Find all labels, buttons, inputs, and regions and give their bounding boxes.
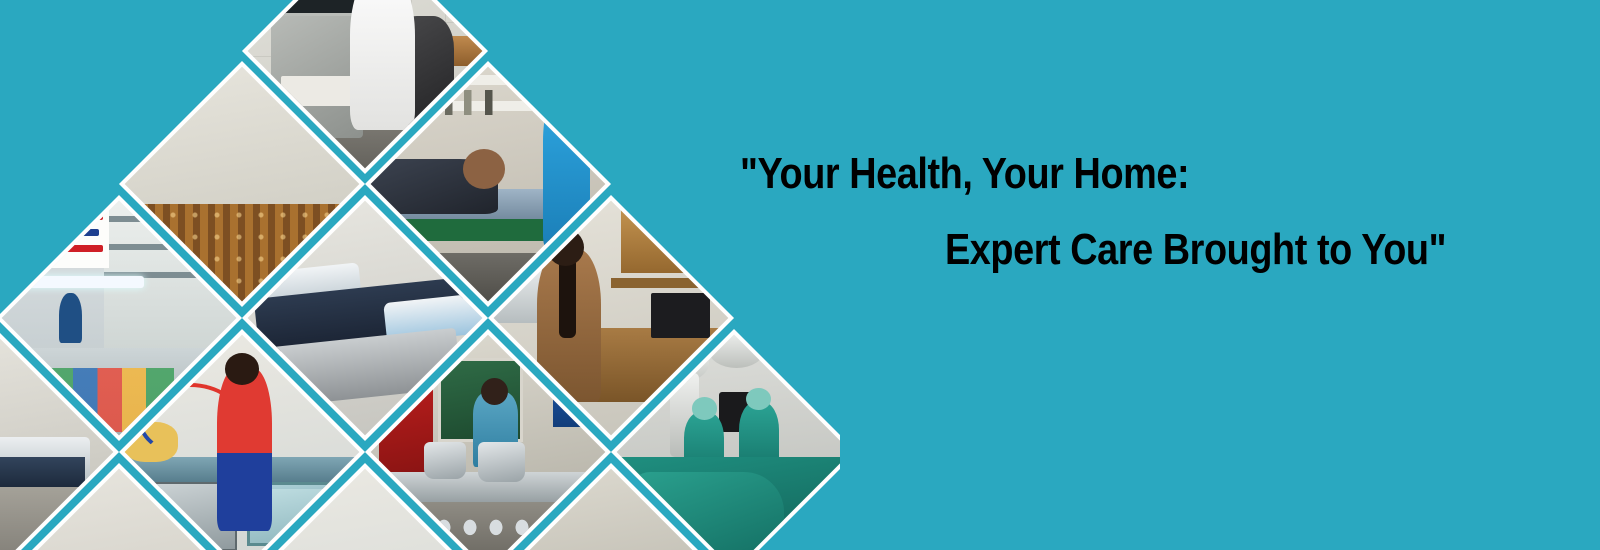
nurse-head <box>225 353 260 385</box>
braid <box>559 258 576 337</box>
surgeon-cap <box>746 388 771 410</box>
photo-collage <box>0 0 840 550</box>
monitor <box>651 293 711 338</box>
monitor <box>276 0 358 16</box>
surgical-lamp <box>709 335 764 368</box>
pharmacy-staff <box>59 293 81 343</box>
tamil-signage <box>2 204 109 268</box>
drawer <box>281 76 353 88</box>
headline-block: "Your Health, Your Home: Expert Care Bro… <box>700 152 1520 272</box>
health-banner: "Your Health, Your Home: Expert Care Bro… <box>0 0 1600 550</box>
headline-line-1: "Your Health, Your Home: <box>740 152 1411 196</box>
cooking-pot <box>424 442 466 479</box>
kitchen-staff-head <box>481 378 508 405</box>
cooking-pot <box>478 442 525 482</box>
nurse <box>217 368 272 532</box>
surgeon-cap <box>692 397 717 419</box>
patient <box>463 149 505 189</box>
nurse-head <box>553 80 583 110</box>
shelf <box>611 278 728 288</box>
mattress <box>0 457 85 487</box>
technician <box>350 0 414 130</box>
headline-line-2: Expert Care Brought to You" <box>945 228 1440 272</box>
tube-light <box>5 276 144 288</box>
